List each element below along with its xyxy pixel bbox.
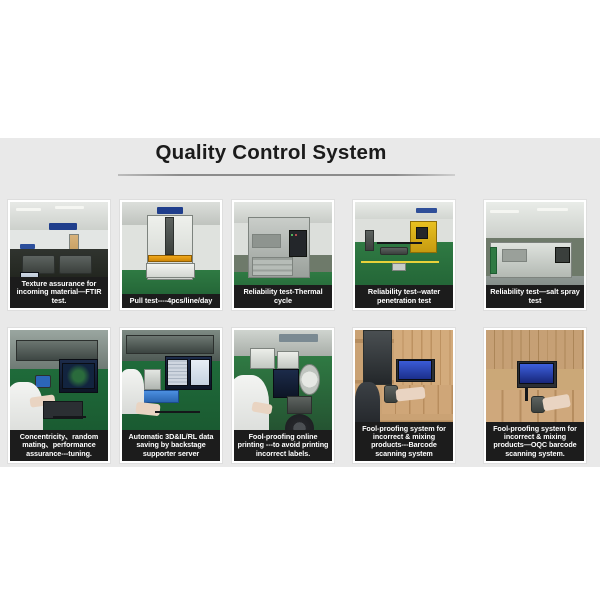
card-oqc-barcode-scanning[interactable]: Fool-proofing system for incorrect & mix… <box>483 327 587 464</box>
photo-salt-spray-chamber: Reliability test—salt spray test <box>486 202 584 308</box>
card-pull-test[interactable]: Pull test----4pcs/line/day <box>119 199 223 311</box>
gallery-row-1: Texture assurance for incoming material—… <box>0 198 600 316</box>
photo-barcode-scanning-laptop: Fool-proofing system for incorrect & mix… <box>355 330 453 461</box>
caption: Fool-proofing system for incorrect & mix… <box>486 422 584 461</box>
photo-concentricity-tuning-station: Concentricity、random mating、performance … <box>10 330 108 461</box>
caption: Reliability test—salt spray test <box>486 285 584 308</box>
photo-ftir-lab-bench: Texture assurance for incoming material—… <box>10 202 108 308</box>
caption: Automatic 3D&IL/RL data saving by backst… <box>122 430 220 461</box>
card-salt-spray[interactable]: Reliability test—salt spray test <box>483 199 587 311</box>
photo-thermal-cycle-chamber: Reliability test-Thermal cycle <box>234 202 332 308</box>
caption: Fool-proofing system for incorrect & mix… <box>355 422 453 461</box>
card-barcode-scanning[interactable]: Fool-proofing system for incorrect & mix… <box>352 327 456 464</box>
quality-control-panel: Quality Control System <box>0 138 600 467</box>
caption: Texture assurance for incoming material—… <box>10 277 108 308</box>
card-thermal-cycle[interactable]: Reliability test-Thermal cycle <box>231 199 335 311</box>
caption: Reliability test--water penetration test <box>355 285 453 308</box>
card-water-penetration[interactable]: Reliability test--water penetration test <box>352 199 456 311</box>
caption: Reliability test-Thermal cycle <box>234 285 332 308</box>
card-online-printing[interactable]: Fool-proofing online printing ---to avoi… <box>231 327 335 464</box>
gallery-row-2: Concentricity、random mating、performance … <box>0 327 600 468</box>
caption: Fool-proofing online printing ---to avoi… <box>234 430 332 461</box>
photo-online-label-printing: Fool-proofing online printing ---to avoi… <box>234 330 332 461</box>
photo-automatic-data-saving-station: Automatic 3D&IL/RL data saving by backst… <box>122 330 220 461</box>
title-divider <box>118 174 455 176</box>
photo-oqc-barcode-scanning: Fool-proofing system for incorrect & mix… <box>486 330 584 461</box>
caption: Concentricity、random mating、performance … <box>10 430 108 461</box>
card-texture-assurance-ftir[interactable]: Texture assurance for incoming material—… <box>7 199 111 311</box>
title-block: Quality Control System <box>0 138 600 196</box>
photo-water-penetration-rig: Reliability test--water penetration test <box>355 202 453 308</box>
photo-pull-test-machine: Pull test----4pcs/line/day <box>122 202 220 308</box>
card-concentricity-tuning[interactable]: Concentricity、random mating、performance … <box>7 327 111 464</box>
page-title: Quality Control System <box>0 141 600 165</box>
caption: Pull test----4pcs/line/day <box>122 294 220 308</box>
card-automatic-data-saving[interactable]: Automatic 3D&IL/RL data saving by backst… <box>119 327 223 464</box>
page-root: Quality Control System <box>0 0 600 600</box>
